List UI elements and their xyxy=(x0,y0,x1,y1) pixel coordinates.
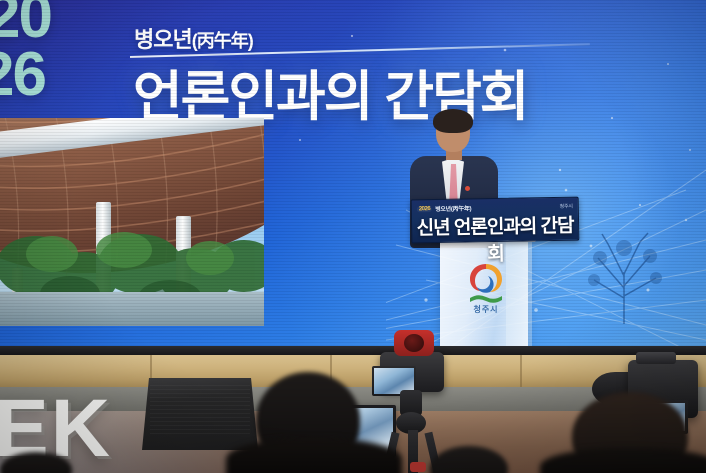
panel-seam xyxy=(330,355,332,387)
year-2026-display: 20 26 xyxy=(0,0,106,105)
year-bottom: 26 xyxy=(0,46,106,104)
wood-wall-panel xyxy=(0,355,706,387)
podium-emblem-label: 청주시 xyxy=(462,304,510,315)
led-subtitle: 병오년(丙午年) xyxy=(134,22,253,54)
subtitle-korean: 병오년 xyxy=(134,27,192,52)
podium-nameplate-sign: 2026 병오년(丙午年) 청주시 신년 언론인과의 간담회 xyxy=(411,197,580,244)
cheongju-city-emblem-icon xyxy=(466,260,506,306)
photo-ground xyxy=(0,292,264,326)
floor-reflection xyxy=(0,411,420,473)
sign-year-badge: 2026 xyxy=(417,206,432,212)
stage-riser xyxy=(0,387,706,411)
sign-main-text: 신년 언론인과의 간담회 xyxy=(412,211,579,268)
building-photo-inset xyxy=(0,118,264,326)
speaker-hair xyxy=(433,109,473,133)
panel-seam xyxy=(520,355,522,387)
tree-silhouette xyxy=(564,228,684,324)
sign-city-label: 청주시 xyxy=(560,203,573,210)
screenshot-root: 20 26 병오년(丙午年) 언론인과의 간담회 xyxy=(0,0,706,473)
led-video-wall: 20 26 병오년(丙午年) 언론인과의 간담회 xyxy=(0,0,706,352)
panel-seam xyxy=(150,355,152,387)
lapel-pin xyxy=(465,186,470,191)
screen-bottom-trim xyxy=(0,346,706,355)
subtitle-hanja: (丙午年) xyxy=(192,31,253,51)
